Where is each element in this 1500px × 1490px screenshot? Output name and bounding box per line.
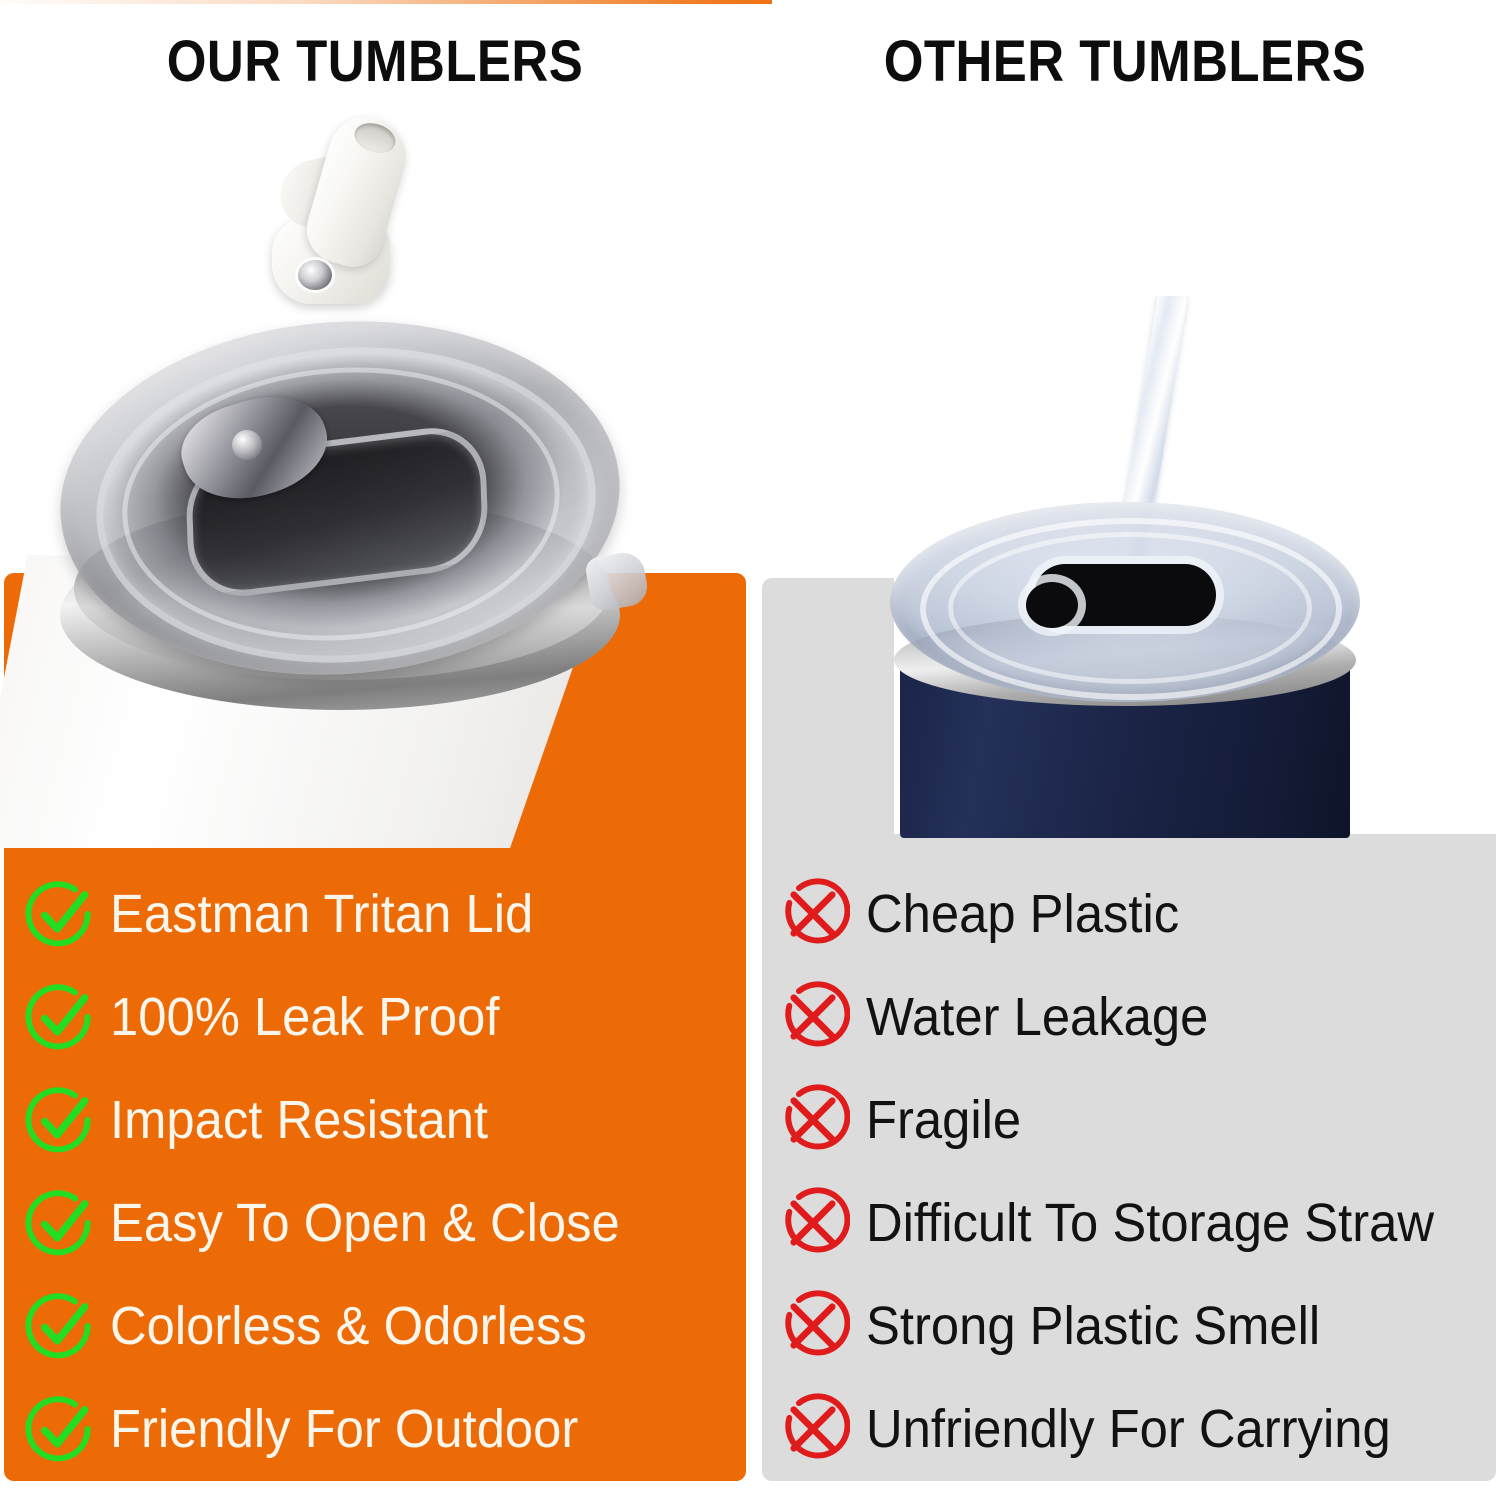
list-item: Fragile [776,1068,1486,1171]
black-gasket-notch [1026,582,1078,628]
bottom-margin [0,1481,1500,1490]
list-item: Cheap Plastic [776,862,1486,965]
cross-circle-icon [776,877,850,951]
list-item: Unfriendly For Carrying [776,1377,1486,1480]
check-circle-icon [24,877,98,951]
list-item: Impact Resistant [24,1068,724,1171]
list-item: Eastman Tritan Lid [24,862,724,965]
list-item-label: Unfriendly For Carrying [866,1402,1391,1456]
other-tumblers-drawback-list: Cheap Plastic Water Leakage Fragile [776,862,1486,1480]
check-circle-icon [24,1392,98,1466]
page-title-other-tumblers: OTHER TUMBLERS [795,28,1455,95]
check-circle-icon [24,980,98,1054]
list-item-label: 100% Leak Proof [110,990,499,1044]
lid-hinge-pin [232,430,262,460]
cross-circle-icon [776,1186,850,1260]
list-item: 100% Leak Proof [24,965,724,1068]
list-item: Strong Plastic Smell [776,1274,1486,1377]
page-title-our-tumblers: OUR TUMBLERS [45,28,705,95]
list-item: Colorless & Odorless [24,1274,724,1377]
check-circle-icon [24,1186,98,1260]
spout-pivot-screw [298,260,332,290]
flip-top-spout [262,112,452,312]
cross-circle-icon [776,1289,850,1363]
list-item-label: Difficult To Storage Straw [866,1196,1434,1250]
list-item-label: Eastman Tritan Lid [110,887,533,941]
list-item-label: Impact Resistant [110,1093,488,1147]
lid-side-tab [584,549,650,612]
tumbler-comparison-infographic: OUR TUMBLERS OTHER TUMBLERS [0,0,1500,1490]
list-item-label: Friendly For Outdoor [110,1402,578,1456]
white-tumbler-image [0,100,750,848]
list-item-label: Cheap Plastic [866,887,1179,941]
cross-circle-icon [776,1392,850,1466]
list-item-label: Colorless & Odorless [110,1299,587,1353]
list-item-label: Water Leakage [866,990,1208,1044]
check-circle-icon [24,1289,98,1363]
list-item: Difficult To Storage Straw [776,1171,1486,1274]
cross-circle-icon [776,1083,850,1157]
navy-tumbler-image [762,296,1496,848]
list-item-label: Strong Plastic Smell [866,1299,1320,1353]
top-accent-rule [0,0,772,4]
list-item-label: Fragile [866,1093,1021,1147]
list-item: Friendly For Outdoor [24,1377,724,1480]
our-tumblers-feature-list: Eastman Tritan Lid 100% Leak Proof Impac… [24,862,724,1480]
cross-circle-icon [776,980,850,1054]
check-circle-icon [24,1083,98,1157]
list-item: Easy To Open & Close [24,1171,724,1274]
list-item: Water Leakage [776,965,1486,1068]
list-item-label: Easy To Open & Close [110,1196,620,1250]
